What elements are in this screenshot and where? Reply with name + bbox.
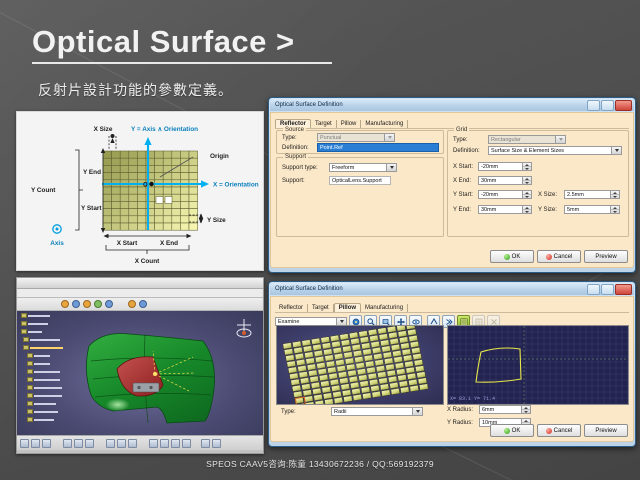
tab-manufacturing[interactable]: Manufacturing: [361, 120, 408, 128]
pillow-cell: [283, 343, 292, 350]
status-icon: [182, 439, 191, 448]
grid-type-combo[interactable]: Rectangular: [488, 135, 566, 144]
grid-group: Grid Type: Rectangular Definition: Surfa…: [447, 130, 629, 237]
pillow-cell: [302, 340, 311, 347]
grid-cell: [180, 209, 189, 216]
pillow-cell: [386, 364, 395, 371]
grid-cell: [120, 187, 129, 194]
y-end-value: 30mm: [481, 207, 496, 213]
pillow-cell: [411, 347, 420, 354]
page-subtitle: 反射片設計功能的參數定義。: [38, 80, 233, 100]
grid-cell: [103, 165, 112, 172]
pillow-cell: [372, 391, 381, 398]
grid-cell: [120, 216, 129, 223]
pillow-cell: [313, 344, 322, 351]
x-end-input[interactable]: 30mm: [478, 176, 532, 185]
grid-cell: [137, 216, 146, 223]
grid-cell: [172, 158, 181, 165]
pillow-cell: [331, 385, 340, 392]
pillow-cell: [369, 379, 378, 386]
pillow-cell: [410, 385, 419, 392]
cancel-icon: [546, 428, 552, 434]
x-radius-stepper[interactable]: [521, 406, 530, 413]
grid-parameter-diagram: X Size Y = Axis ∧ Orientation Origin X =…: [16, 111, 264, 271]
pillow-cell: [372, 347, 381, 354]
pillow-cell: [345, 358, 354, 365]
pillow-cell: [315, 400, 324, 404]
pillow-cell: [359, 331, 368, 338]
close-icon[interactable]: [615, 100, 632, 111]
pillow-cell: [407, 329, 416, 336]
pillow-cell: [401, 343, 410, 350]
pillow-type-combo[interactable]: Radii: [331, 407, 423, 416]
pillow-cell: [285, 355, 294, 362]
grid-cell: [103, 216, 112, 223]
pillow-cell: [295, 353, 304, 360]
grid-cell: [172, 216, 181, 223]
y-end-label: Y End:: [453, 207, 471, 213]
support-group: Support Support type: Freeform Support: …: [276, 157, 444, 237]
pillow-cell: [292, 385, 301, 392]
toolbar-icon: [94, 300, 102, 308]
ok-button[interactable]: OK: [490, 250, 534, 263]
status-icon: [74, 439, 83, 448]
status-icon: [20, 439, 29, 448]
grid-cell: [103, 158, 112, 165]
status-icon: [212, 439, 221, 448]
y-size-label: Y Size:: [538, 207, 557, 213]
grid-cell: [112, 201, 121, 208]
pillow-cell: [408, 379, 417, 386]
pillow-cell: [350, 382, 359, 389]
pillow-cell: [352, 344, 361, 351]
source-definition-field[interactable]: Point.Ref: [317, 143, 439, 152]
grid-type-value: Rectangular: [491, 137, 521, 143]
pillow-cell: [382, 346, 391, 353]
pillow-cell: [332, 341, 341, 348]
pillow-cell: [330, 379, 339, 386]
pillow-cell: [317, 362, 326, 369]
grid-cell: [137, 158, 146, 165]
grid-cell: [129, 201, 138, 208]
pillow-cell: [321, 337, 330, 344]
pillow-cell: [377, 371, 386, 378]
pillow-cell: [409, 335, 418, 342]
pillow-cell: [380, 384, 389, 391]
pillow-cell: [390, 338, 399, 345]
grid-cell: [155, 223, 164, 230]
support-label: Support:: [282, 178, 305, 184]
pillow-cell: [402, 349, 411, 356]
catia-toolbar: [17, 298, 263, 311]
pillow-cell: [364, 355, 373, 362]
grid-cell: [112, 223, 121, 230]
pillow-cell: [368, 329, 377, 336]
grid-cell: [172, 187, 181, 194]
pillow-cell: [389, 382, 398, 389]
y-start-stepper[interactable]: [522, 191, 531, 198]
pillow-cell: [360, 381, 369, 388]
pillow-cell: [337, 365, 346, 372]
grid-cell: [163, 223, 172, 230]
pillow-cell: [349, 376, 358, 383]
pillow-cell: [289, 373, 298, 380]
pillow-cell: [378, 327, 387, 334]
grid-group-label: Grid: [454, 127, 469, 133]
grid-cell: [129, 216, 138, 223]
tab2-target[interactable]: Target: [308, 304, 334, 312]
x-size-stepper[interactable]: [610, 191, 619, 198]
ok-label: OK: [512, 254, 521, 260]
profile-svg: X= 83.1 Y= 71.4: [448, 326, 628, 404]
grid-cell: [112, 187, 121, 194]
dialog2-window-buttons[interactable]: [587, 284, 632, 295]
grid-cell: [155, 165, 164, 172]
minimize-icon[interactable]: [587, 284, 600, 295]
pillow-cell: [415, 365, 424, 372]
pillow-cell: [320, 380, 329, 387]
source-type-combo[interactable]: Punctual: [317, 133, 395, 142]
pillow-cell: [354, 356, 363, 363]
grid-cell: [112, 173, 121, 180]
source-point: [153, 372, 157, 376]
grid-cell: [137, 165, 146, 172]
label-x-orientation: X = Orientation: [213, 182, 259, 189]
pillow-cell: [299, 371, 308, 378]
pillow-cell: [399, 337, 408, 344]
grid-cell: [112, 209, 121, 216]
pillow-cell: [398, 331, 407, 338]
preview-button[interactable]: Preview: [584, 250, 628, 263]
support-value: OpticalLens.Support: [332, 178, 382, 184]
pillow-cell: [298, 365, 307, 372]
grid-cell: [163, 158, 172, 165]
x-radius-value: 6mm: [482, 407, 494, 413]
x-radius-label: X Radius:: [447, 407, 473, 413]
preview-button[interactable]: Preview: [584, 424, 628, 437]
grid-cell: [112, 216, 121, 223]
dialog1-titlebar[interactable]: Optical Surface Definition: [270, 99, 634, 111]
catia-titlebar: [17, 278, 263, 289]
toolbar-icon: [61, 300, 69, 308]
status-icon: [85, 439, 94, 448]
y-start-label: Y Start:: [453, 192, 473, 198]
pillow-cell: [387, 326, 396, 333]
chevron-down-icon[interactable]: [611, 147, 621, 154]
x-start-stepper[interactable]: [522, 163, 531, 170]
pillow-cell: [418, 378, 427, 385]
toolbar-icon: [128, 300, 136, 308]
pillow-cell: [294, 347, 303, 354]
grid-cell: [120, 201, 129, 208]
label-axis: Axis: [50, 240, 64, 247]
pillow-grid-svg: [277, 326, 443, 404]
grid-cell: [129, 173, 138, 180]
support-value-field[interactable]: OpticalLens.Support: [329, 176, 391, 185]
pillow-cell: [349, 332, 358, 339]
slide-root: Optical Surface > 反射片設計功能的參數定義。: [0, 0, 640, 480]
grid-definition-value: Surface Size & Element Sizes: [491, 148, 564, 154]
dialog1-title: Optical Surface Definition: [272, 102, 343, 108]
pillow-cell: [324, 399, 333, 404]
label-origin-marker: O: [143, 183, 148, 189]
grid-cell: [155, 209, 164, 216]
pillow-cell: [338, 371, 347, 378]
cancel-label: Cancel: [554, 254, 573, 260]
dialog2-tabs[interactable]: Reflector Target Pillow Manufacturing: [271, 297, 633, 312]
x-size-label: X Size:: [538, 192, 557, 198]
dialog1-tabs[interactable]: Reflector Target Pillow Manufacturing: [271, 113, 633, 128]
maximize-icon[interactable]: [601, 284, 614, 295]
chevron-down-icon[interactable]: [386, 164, 396, 171]
grid-cell: [180, 187, 189, 194]
pillow-cell: [356, 362, 365, 369]
grid-cell: [189, 194, 198, 201]
ok-button[interactable]: OK: [490, 424, 534, 437]
pillow-cell: [371, 341, 380, 348]
pillow-cell: [293, 391, 302, 398]
grid-cell: [189, 165, 198, 172]
chevron-down-icon[interactable]: [555, 136, 565, 143]
diagram-svg: X Size Y = Axis ∧ Orientation Origin X =…: [17, 112, 263, 270]
dialog2-button-row[interactable]: OK Cancel Preview: [490, 424, 628, 437]
grid-cell: [129, 165, 138, 172]
pillow-cell: [361, 387, 370, 394]
grid-cell: [137, 209, 146, 216]
grid-cell: [129, 151, 138, 158]
origin-dot: [149, 182, 153, 186]
footer-text: SPEOS CAAV5咨询:陈童 13430672236 / QQ:569192…: [0, 458, 640, 470]
pillow-cell: [291, 379, 300, 386]
x-end-label: X End:: [453, 178, 471, 184]
grid-cell: [180, 151, 189, 158]
grid-cell: [180, 223, 189, 230]
grid-cell: [103, 194, 112, 201]
dialog1-button-row[interactable]: OK Cancel Preview: [490, 250, 628, 263]
label-origin: Origin: [210, 153, 229, 160]
grid-cell: [163, 216, 172, 223]
catia-compass: [233, 317, 255, 341]
grid-cell: [120, 194, 129, 201]
pillow-cell: [388, 332, 397, 339]
pillow-cell: [394, 356, 403, 363]
optical-surface-definition-dialog-1[interactable]: Optical Surface Definition Reflector Tar…: [268, 97, 636, 273]
pillow-cell: [348, 370, 357, 377]
tab-pillow[interactable]: Pillow: [337, 120, 362, 128]
pillow-cell: [397, 326, 406, 331]
pillow-cell: [391, 344, 400, 351]
pillow-cell: [406, 326, 415, 330]
label-x-size: X Size: [94, 126, 113, 133]
pillow-cell: [322, 343, 331, 350]
grid-cell: [155, 187, 164, 194]
x-end-value: 30mm: [481, 178, 496, 184]
pillow-cell: [358, 374, 367, 381]
toolbar-icon: [83, 300, 91, 308]
pillow-cell: [315, 356, 324, 363]
chevron-down-icon[interactable]: [412, 408, 422, 415]
pillow-cell: [373, 353, 382, 360]
chevron-down-icon[interactable]: [336, 318, 346, 325]
ok-icon: [504, 254, 510, 260]
grid-cell: [172, 194, 181, 201]
dialog2-titlebar[interactable]: Optical Surface Definition: [270, 283, 634, 295]
plate-hole: [149, 386, 152, 389]
chevron-down-icon[interactable]: [384, 134, 394, 141]
pillow-cell: [341, 384, 350, 391]
pillow-cell: [342, 346, 351, 353]
grid-cell: [129, 158, 138, 165]
pillow-cell: [284, 349, 293, 356]
support-type-combo[interactable]: Freeform: [329, 163, 397, 172]
grid-cell: [120, 223, 129, 230]
grid-cell: [103, 209, 112, 216]
grid-cell: [137, 173, 146, 180]
catia-model-svg: [17, 311, 263, 435]
viewer-mode-value: Examine: [278, 319, 299, 325]
pillow-cell: [329, 373, 338, 380]
grid-cell: [120, 158, 129, 165]
pillow-cell: [303, 346, 312, 353]
x-size-dot: [111, 134, 115, 138]
grid-cell: [137, 194, 146, 201]
catia-viewport: [17, 311, 263, 435]
grid-definition-combo[interactable]: Surface Size & Element Sizes: [488, 146, 622, 155]
pillow-cell: [387, 370, 396, 377]
pillow-cell: [287, 361, 296, 368]
highlight-cell: [156, 197, 163, 204]
pillow-cell: [312, 388, 321, 395]
pillow-cell: [318, 368, 327, 375]
x-end-stepper[interactable]: [522, 177, 531, 184]
grid-cell: [155, 151, 164, 158]
title-underline: [32, 62, 332, 64]
cancel-button[interactable]: Cancel: [537, 424, 581, 437]
pillow-cell: [376, 365, 385, 372]
pillow-cell: [406, 367, 415, 374]
status-icon: [171, 439, 180, 448]
pillow-cell: [344, 352, 353, 359]
pillow-cell: [363, 349, 372, 356]
status-icon: [31, 439, 40, 448]
pillow-cell: [327, 367, 336, 374]
dialog1-window-buttons[interactable]: [587, 100, 632, 111]
pillow-cell: [375, 359, 384, 366]
ok-icon: [504, 428, 510, 434]
tab2-reflector[interactable]: Reflector: [275, 304, 308, 312]
status-icon: [63, 439, 72, 448]
pillow-cell: [353, 350, 362, 357]
pillow-cell: [384, 358, 393, 365]
optical-surface-definition-dialog-2[interactable]: Optical Surface Definition Reflector Tar…: [268, 281, 636, 447]
pillow-type-value: Radii: [334, 409, 347, 415]
grid-cell: [163, 173, 172, 180]
status-icon: [42, 439, 51, 448]
pillow-3d-viewport[interactable]: [276, 325, 444, 405]
x-radius-input[interactable]: 6mm: [479, 405, 531, 414]
pillow-cell: [368, 373, 377, 380]
pillow-cell: [302, 383, 311, 390]
x-start-input[interactable]: -20mm: [478, 162, 532, 171]
pillow-cell: [407, 373, 416, 380]
pillow-cell: [303, 390, 312, 397]
y-radius-label: Y Radius:: [447, 420, 473, 426]
label-y-start: Y Start: [81, 205, 102, 212]
pillow-cell: [404, 361, 413, 368]
tab2-pillow[interactable]: Pillow: [334, 303, 361, 312]
pillow-type-label: Type:: [281, 409, 296, 415]
pillow-cell: [340, 334, 349, 341]
pillow-cell: [371, 385, 380, 392]
grid-cell: [120, 151, 129, 158]
grid-cell: [112, 165, 121, 172]
pillow-cell: [310, 376, 319, 383]
pillow-cell: [392, 350, 401, 357]
pillow-cell: [346, 364, 355, 371]
y-size-stepper[interactable]: [610, 206, 619, 213]
x-start-label: X Start:: [453, 164, 473, 170]
grid-cell: [172, 209, 181, 216]
pillow-cell: [414, 359, 423, 366]
tab-target[interactable]: Target: [311, 120, 337, 128]
grid-cell: [163, 151, 172, 158]
pillow-cell: [311, 382, 320, 389]
pillow-cell: [362, 393, 371, 400]
pillow-cell: [361, 343, 370, 350]
close-icon[interactable]: [615, 284, 632, 295]
minimize-icon[interactable]: [587, 100, 600, 111]
grid-cell: [163, 187, 172, 194]
status-icon: [201, 439, 210, 448]
grid-cell: [137, 223, 146, 230]
x-size-input[interactable]: 2.5mm: [564, 190, 620, 199]
grid-cell: [180, 173, 189, 180]
pillow-cell: [292, 341, 301, 348]
pillow-cell: [380, 340, 389, 347]
pillow-cell: [400, 387, 409, 394]
y-start-input[interactable]: -20mm: [478, 190, 532, 199]
pillow-cell: [398, 375, 407, 382]
pillow-cell: [333, 391, 342, 398]
grid-cell: [112, 151, 121, 158]
tab2-manufacturing[interactable]: Manufacturing: [361, 304, 408, 312]
grid-cell: [155, 158, 164, 165]
title-block: Optical Surface >: [32, 26, 452, 64]
pillow-cell: [369, 335, 378, 342]
label-x-count: X Count: [135, 258, 160, 265]
cancel-button[interactable]: Cancel: [537, 250, 581, 263]
maximize-icon[interactable]: [601, 100, 614, 111]
pillow-cell: [357, 368, 366, 375]
reflector-plate: [133, 383, 159, 392]
pillow-2d-viewport[interactable]: X= 83.1 Y= 71.4: [447, 325, 629, 405]
label-y-size: Y Size: [207, 217, 226, 224]
pillow-cell: [379, 334, 388, 341]
pillow-cell: [314, 394, 323, 401]
pillow-cell: [322, 387, 331, 394]
grid-cell: [172, 223, 181, 230]
grid-cell: [120, 165, 129, 172]
pillow-cell: [413, 353, 422, 360]
grid-cell: [189, 187, 198, 194]
pillow-cell: [383, 352, 392, 359]
pillow-cell: [419, 384, 428, 391]
y-end-input[interactable]: 30mm: [478, 205, 532, 214]
y-size-input[interactable]: 5mm: [564, 205, 620, 214]
grid-cell: [155, 216, 164, 223]
grid-cell: [180, 165, 189, 172]
y-end-stepper[interactable]: [522, 206, 531, 213]
